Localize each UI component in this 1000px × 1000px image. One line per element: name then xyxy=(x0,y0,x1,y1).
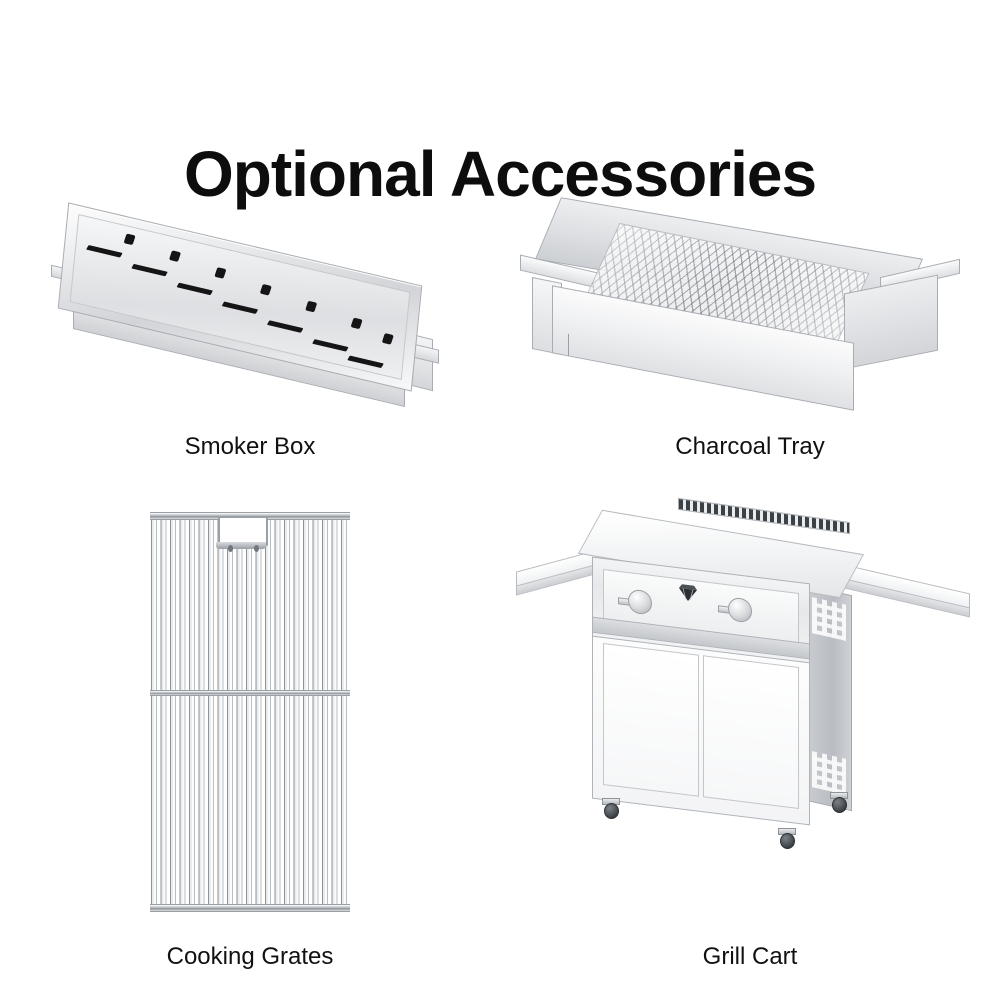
charcoal-tray-seam xyxy=(568,334,569,356)
cooking-grates-illustration xyxy=(150,512,350,912)
page-title: Optional Accessories xyxy=(0,139,1000,209)
accessory-card-grill-cart[interactable]: Grill Cart xyxy=(500,502,1000,872)
grill-cart-side-panel xyxy=(806,585,852,812)
accessory-label-cooking-grates: Cooking Grates xyxy=(0,942,500,972)
charcoal-tray-illustration xyxy=(508,222,968,422)
accessories-grid: Smoker Box Charcoal Tray xyxy=(0,210,1000,950)
grill-cart-vent-holes xyxy=(812,597,846,641)
grill-cart-vent-holes xyxy=(812,751,846,795)
accessory-label-smoker-box: Smoker Box xyxy=(0,432,500,462)
cooking-grates-image xyxy=(0,502,500,932)
grill-cart-brand-logo-icon xyxy=(678,583,698,603)
accessory-label-charcoal-tray: Charcoal Tray xyxy=(500,432,1000,462)
grill-cart-caster-front-left xyxy=(602,798,618,818)
cooking-grates-middle-bar xyxy=(150,690,350,696)
caster-wheel xyxy=(832,797,847,813)
cooking-grates-handle-peg xyxy=(228,545,233,552)
smoker-box-image xyxy=(0,210,500,450)
smoker-box-illustration xyxy=(55,238,445,428)
grill-cart-door-right[interactable] xyxy=(703,655,799,809)
grill-cart-caster-front-right xyxy=(778,828,794,848)
grill-cart-caster-rear-right xyxy=(830,792,846,812)
caster-wheel xyxy=(780,833,795,849)
grill-cart-door-left[interactable] xyxy=(603,643,699,797)
cooking-grates-rods xyxy=(150,512,350,912)
cooking-grates-handle-peg xyxy=(254,545,259,552)
cooking-grates-bottom-bar xyxy=(150,904,350,912)
caster-wheel xyxy=(604,803,619,819)
grill-cart-image xyxy=(500,502,1000,932)
accessory-label-grill-cart: Grill Cart xyxy=(500,942,1000,972)
grill-cart-illustration xyxy=(510,502,980,922)
product-accessories-page: Optional Accessories xyxy=(0,0,1000,1000)
charcoal-tray-image xyxy=(500,210,1000,450)
accessory-card-cooking-grates[interactable]: Cooking Grates xyxy=(0,502,500,872)
